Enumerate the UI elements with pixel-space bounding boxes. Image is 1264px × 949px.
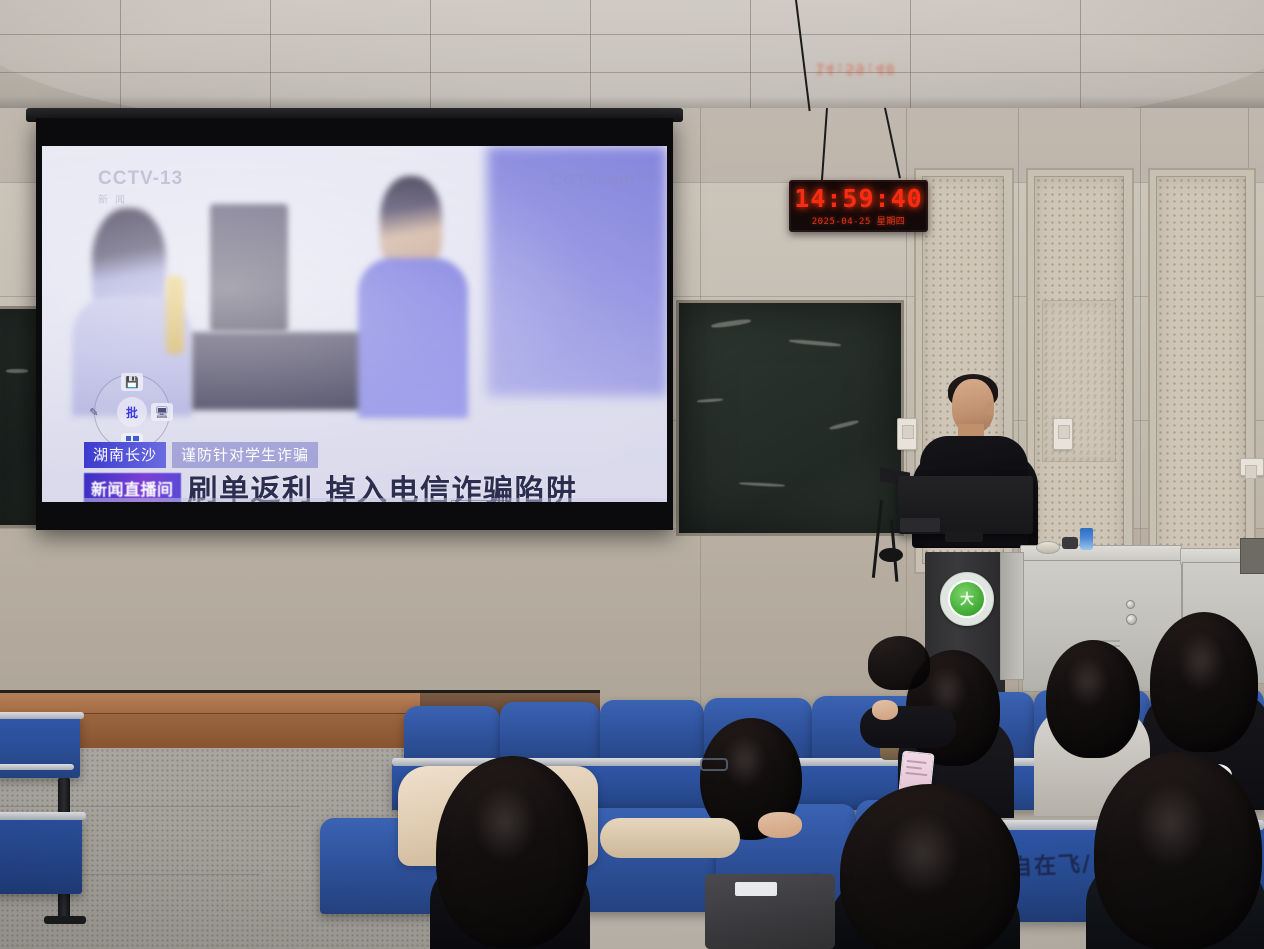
news-ticker-text: 的资金，用以长期向乌克兰提供军事装备。 xyxy=(202,500,441,503)
ceiling xyxy=(0,0,1264,120)
projection-screen: CCTV-13 新闻 CCTVcom央视网 💾 🖥 ✎ 批 湖南长沙 谨防针对 xyxy=(36,118,673,530)
lectern-monitor-stand xyxy=(945,532,983,542)
hand-on-armrest xyxy=(872,700,898,720)
power-outlet[interactable] xyxy=(1240,458,1264,476)
wall-switch-right[interactable] xyxy=(1053,418,1073,450)
hand-resting-on-desk xyxy=(758,812,802,838)
cabinet-side-panel xyxy=(1000,552,1024,680)
desk-edge-front-left-2 xyxy=(0,812,86,820)
cctv13-logo-sub: 新闻 xyxy=(98,191,198,206)
cctv-watermark-cn: 央视网 xyxy=(635,171,662,180)
led-clock-ceiling-reflection: 14:59:40 xyxy=(793,62,918,78)
university-crest: 大 xyxy=(940,572,994,626)
microphone-base xyxy=(879,548,903,562)
cctv13-logo: CCTV-13 新闻 xyxy=(98,168,198,210)
cctv-watermark-suffix: com xyxy=(598,170,634,189)
lectern-control-panel[interactable] xyxy=(900,518,940,532)
led-clock-date: 2025-04-25 星期四 xyxy=(812,214,906,227)
coat-fold xyxy=(600,818,740,858)
lower-third-top-row: 湖南长沙 谨防针对学生诈骗 xyxy=(84,442,318,468)
crest-core: 大 xyxy=(950,582,984,616)
pen-tool-icon[interactable]: 批 xyxy=(117,397,147,427)
led-wall-clock: 14:59:40 2025-04-25 星期四 xyxy=(789,180,928,232)
cabinet-lock[interactable] xyxy=(1126,614,1137,625)
lower-third-headline-row: 新闻直播间 刷单返利 掉入电信诈骗陷阱 xyxy=(84,466,577,502)
save-icon[interactable]: 💾 xyxy=(121,373,143,391)
eyeglasses xyxy=(700,758,728,771)
news-topic-tag: 谨防针对学生诈骗 xyxy=(172,442,318,468)
news-headline: 刷单返利 掉入电信诈骗陷阱 xyxy=(188,466,578,502)
cctv-com-watermark: CCTVcom央视网 xyxy=(550,170,662,190)
desk-foot-front-left xyxy=(44,916,86,924)
acoustic-panel-right xyxy=(1156,176,1246,564)
presenter-ear xyxy=(985,402,994,415)
desk-shelf-front-left xyxy=(0,764,74,770)
cabinet-handle[interactable] xyxy=(1126,600,1135,609)
desk-front-left-2 xyxy=(0,816,82,894)
news-timestamp: 8月31日 10:53 xyxy=(84,499,192,503)
projected-video: CCTV-13 新闻 CCTVcom央视网 💾 🖥 ✎ 批 湖南长沙 谨防针对 xyxy=(42,146,667,502)
lecture-hall-photo: 14:59:40 xyxy=(0,0,1264,949)
wall-switch-left[interactable] xyxy=(897,418,917,450)
bag-label-tag xyxy=(735,882,777,896)
student-head-left-row xyxy=(868,636,930,690)
projector-mount xyxy=(1240,538,1264,574)
desk-edge-front-left xyxy=(0,712,84,719)
water-bottle[interactable] xyxy=(1080,528,1093,550)
cctv-watermark-text: CCTV xyxy=(550,170,598,189)
ticker-cctv-badge: CCTV 新闻 xyxy=(451,500,509,503)
window-icon[interactable]: 🖥 xyxy=(151,403,173,421)
annotation-tool-wheel[interactable]: 💾 🖥 ✎ 批 xyxy=(94,374,170,450)
pencil-icon[interactable]: ✎ xyxy=(83,403,105,421)
news-ticker-bar: 8月31日 10:53 的资金，用以长期向乌克兰提供军事装备。 CCTV 新闻 … xyxy=(84,498,667,502)
paper-cup[interactable] xyxy=(1036,541,1060,554)
news-ticker-tail: 俄罗斯普斯科夫州州 xyxy=(519,500,632,503)
blackboard-center xyxy=(676,300,904,536)
led-clock-time: 14:59:40 xyxy=(794,186,922,211)
cctv13-logo-text: CCTV-13 xyxy=(98,168,198,190)
desk-graffiti: 自在飞/ xyxy=(1009,846,1093,882)
blackboard-left xyxy=(0,306,39,528)
news-location-tag: 湖南长沙 xyxy=(84,442,166,468)
small-device xyxy=(1062,537,1078,549)
